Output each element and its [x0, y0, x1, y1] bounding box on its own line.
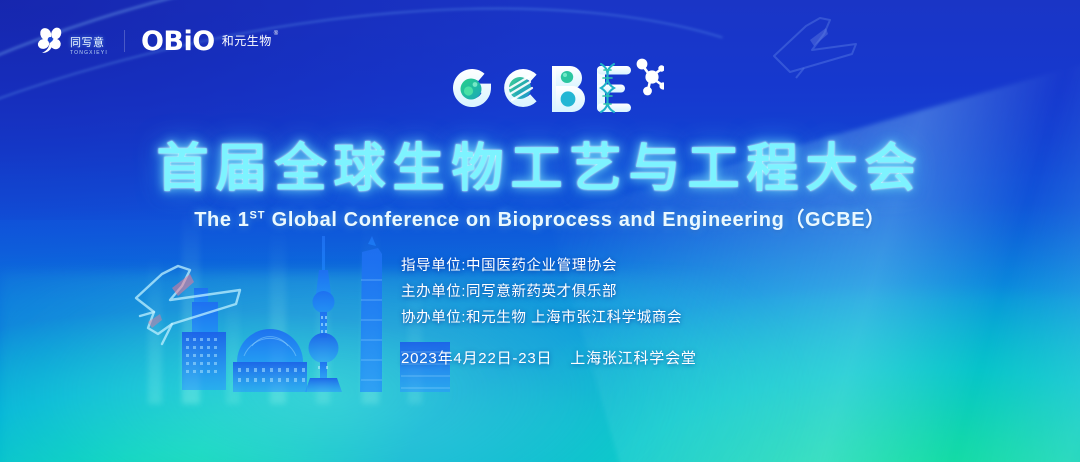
logo-tongxieyi-name-en: TONGXIEYI [70, 51, 108, 56]
flower-clover-icon [36, 26, 66, 56]
gcbe-letter-c [501, 67, 539, 108]
logo-tongxieyi[interactable]: 同写意 TONGXIEYI [36, 26, 108, 56]
gcbe-letter-b [552, 66, 585, 112]
page-subtitle: The 1ST Global Conference on Bioprocess … [0, 203, 1080, 232]
gcbe-letter-e [597, 64, 631, 112]
subtitle-prefix: The 1 [194, 209, 249, 231]
organizer-role: 主办单位 [401, 284, 461, 300]
subtitle-ordinal: ST [249, 209, 265, 221]
partner-logo-bar: 同写意 TONGXIEYI OBiO 和元生物® [36, 26, 272, 56]
organizer-row: 协办单位:和元生物 上海市张江科学城商会 [401, 305, 682, 331]
organizer-role: 协办单位 [401, 310, 461, 326]
conference-banner: 同写意 TONGXIEYI OBiO 和元生物® [0, 0, 1080, 462]
event-venue: 上海张江科学会堂 [570, 350, 696, 367]
registered-trademark-icon: ® [274, 31, 279, 37]
gcbe-logo [444, 52, 664, 124]
organizer-row: 主办单位:同写意新药英才俱乐部 [401, 279, 682, 305]
logo-divider [124, 30, 125, 52]
logo-obio-name-cn: 和元生物® [222, 35, 272, 47]
jinmao-tower [360, 236, 382, 392]
organizer-name: 和元生物 上海市张江科学城商会 [466, 310, 682, 326]
organizer-name: 同写意新药英才俱乐部 [466, 284, 617, 300]
logo-tongxieyi-name-cn: 同写意 [70, 38, 108, 49]
cell-icon [461, 79, 482, 100]
airplane-icon [128, 262, 258, 354]
organizer-name: 中国医药企业管理协会 [466, 258, 617, 274]
event-date: 2023年4月22日-23日 [401, 350, 552, 367]
organizer-row: 指导单位:中国医药企业管理协会 [401, 253, 682, 279]
subtitle-suffix: Global Conference on Bioprocess and Engi… [266, 209, 886, 231]
oriental-pearl-tower [305, 236, 342, 392]
organizer-list: 指导单位:中国医药企业管理协会 主办单位:同写意新药英才俱乐部 协办单位:和元生… [401, 253, 682, 331]
gcbe-letter-g [453, 69, 491, 107]
page-title: 首届全球生物工艺与工程大会 [0, 126, 1080, 201]
event-datetime-venue: 2023年4月22日-23日上海张江科学会堂 [401, 347, 697, 368]
airplane-icon [760, 10, 870, 80]
logo-obio-wordmark: OBiO [141, 28, 215, 55]
organizer-role: 指导单位 [401, 258, 461, 274]
logo-obio[interactable]: OBiO 和元生物® [141, 28, 272, 55]
molecule-icon [637, 59, 664, 96]
